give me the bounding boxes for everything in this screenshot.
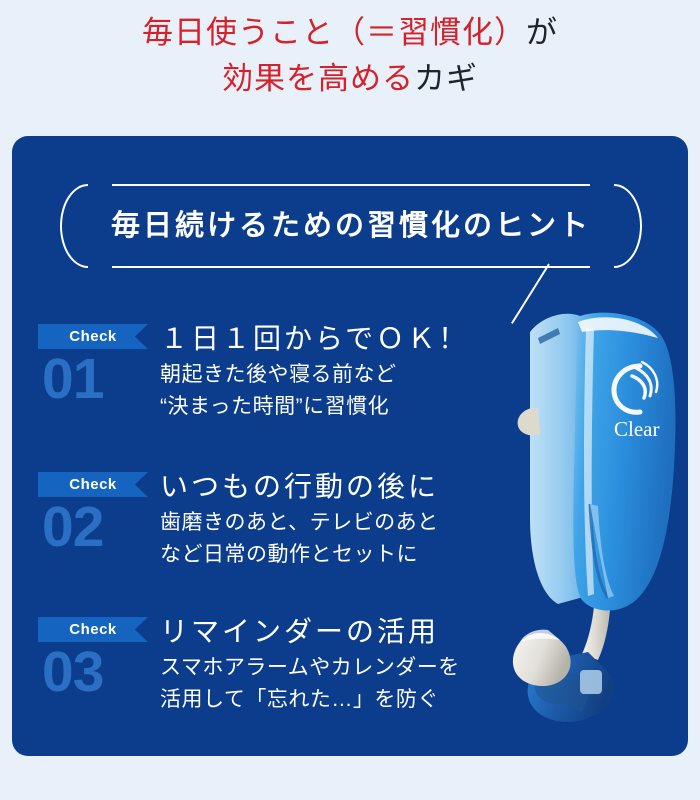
headline-line-2-dark: カギ <box>414 61 478 96</box>
check-body-line: スマホアラームやカレンダーを <box>160 653 560 683</box>
headline-line-1: 毎日使うこと（＝習慣化）が <box>0 10 700 56</box>
bubble-title: 毎日続けるための習慣化のヒント <box>64 184 638 268</box>
headline-line-2-red: 効果を高める <box>222 61 414 96</box>
check-body-line: “決まった時間”に習慣化 <box>160 392 560 422</box>
check-text-col: リマインダーの活用 スマホアラームやカレンダーを 活用して「忘れた…」を防ぐ <box>160 613 560 715</box>
check-title: １日１回からでＯＫ！ <box>160 320 560 358</box>
headline-line-2: 効果を高めるカギ <box>0 56 700 102</box>
headline-line-1-dark: が <box>526 15 558 50</box>
tips-panel: 毎日続けるための習慣化のヒント Check 01 １日１回からでＯＫ！ 朝起きた… <box>12 136 688 756</box>
hearing-aid-device-image: Clear <box>508 308 688 738</box>
check-body-line: など日常の動作とセットに <box>160 540 560 570</box>
check-title: リマインダーの活用 <box>160 613 560 651</box>
bubble-heading: 毎日続けるための習慣化のヒント <box>64 184 638 268</box>
check-body-line: 朝起きた後や寝る前など <box>160 360 560 390</box>
check-title: いつもの行動の後に <box>160 468 560 506</box>
check-number: 02 <box>38 495 150 559</box>
check-ribbon: Check <box>38 617 148 642</box>
check-number: 01 <box>38 347 150 411</box>
check-ribbon: Check <box>38 472 148 497</box>
check-number: 03 <box>38 640 150 704</box>
check-badge-col: Check 02 <box>38 472 150 559</box>
check-body-line: 活用して「忘れた…」を防ぐ <box>160 685 560 715</box>
check-body-line: 歯磨きのあと、テレビのあと <box>160 508 560 538</box>
device-hook-facet <box>580 670 602 694</box>
brand-wordmark: Clear <box>614 417 659 441</box>
check-text-col: １日１回からでＯＫ！ 朝起きた後や寝る前など “決まった時間”に習慣化 <box>160 320 560 422</box>
device-side-button <box>518 408 540 436</box>
check-badge-col: Check 03 <box>38 617 150 704</box>
check-text-col: いつもの行動の後に 歯磨きのあと、テレビのあと など日常の動作とセットに <box>160 468 560 570</box>
check-badge-col: Check 01 <box>38 324 150 411</box>
headline-line-1-red: 毎日使うこと（＝習慣化） <box>142 15 526 50</box>
check-ribbon: Check <box>38 324 148 349</box>
page-headline: 毎日使うこと（＝習慣化）が 効果を高めるカギ <box>0 0 700 102</box>
